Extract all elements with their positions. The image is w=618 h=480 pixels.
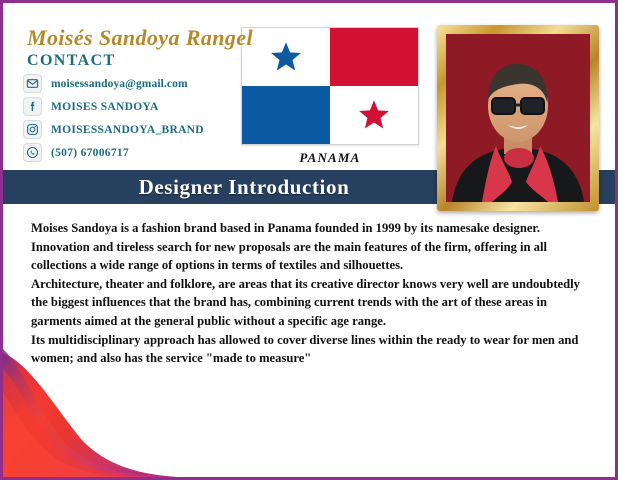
flag-quadrant-top-right	[330, 28, 418, 86]
intro-paragraph-1: Moises Sandoya is a fashion brand based …	[31, 219, 593, 238]
contact-label-instagram: MOISESSANDOYA_BRAND	[51, 124, 204, 136]
intro-paragraph-2: Innovation and tireless search for new p…	[31, 238, 593, 275]
panama-flag	[241, 27, 419, 145]
portrait-inner	[446, 34, 590, 202]
instagram-icon	[23, 120, 42, 139]
contact-label-email: moisessandoya@gmail.com	[51, 78, 188, 90]
whatsapp-icon	[23, 143, 42, 162]
section-title: Designer Introduction	[139, 175, 350, 200]
flag-quadrant-top-left	[242, 28, 330, 86]
flag-caption: PANAMA	[241, 150, 419, 166]
intro-paragraph-3: Architecture, theater and folklore, are …	[31, 275, 593, 331]
introduction-text: Moises Sandoya is a fashion brand based …	[31, 219, 593, 368]
designer-portrait-photo	[446, 34, 590, 202]
flag-quadrant-bottom-right	[330, 86, 418, 144]
flag-red-star-icon	[357, 98, 391, 132]
contact-item-facebook[interactable]: MOISES SANDOYA	[23, 96, 204, 117]
email-icon	[23, 74, 42, 93]
panama-flag-block: PANAMA	[241, 27, 419, 166]
intro-paragraph-4: Its multidisciplinary approach has allow…	[31, 331, 593, 368]
contact-label-facebook: MOISES SANDOYA	[51, 101, 159, 113]
contact-item-whatsapp[interactable]: (507) 67006717	[23, 142, 204, 163]
contact-heading: CONTACT	[27, 52, 116, 70]
contact-item-email[interactable]: moisessandoya@gmail.com	[23, 73, 204, 94]
flag-blue-star-icon	[269, 40, 303, 74]
facebook-icon	[23, 97, 42, 116]
designer-name: Moisés Sandoya Rangel	[27, 25, 253, 51]
contact-item-instagram[interactable]: MOISESSANDOYA_BRAND	[23, 119, 204, 140]
contact-list: moisessandoya@gmail.com MOISES SANDOYA M…	[23, 73, 204, 165]
contact-label-phone: (507) 67006717	[51, 147, 129, 159]
designer-portrait-frame	[437, 25, 599, 211]
slide-canvas: Moisés Sandoya Rangel CONTACT moisessand…	[0, 0, 618, 480]
portrait-illustration	[446, 34, 590, 202]
flag-quadrant-bottom-left	[242, 86, 330, 144]
